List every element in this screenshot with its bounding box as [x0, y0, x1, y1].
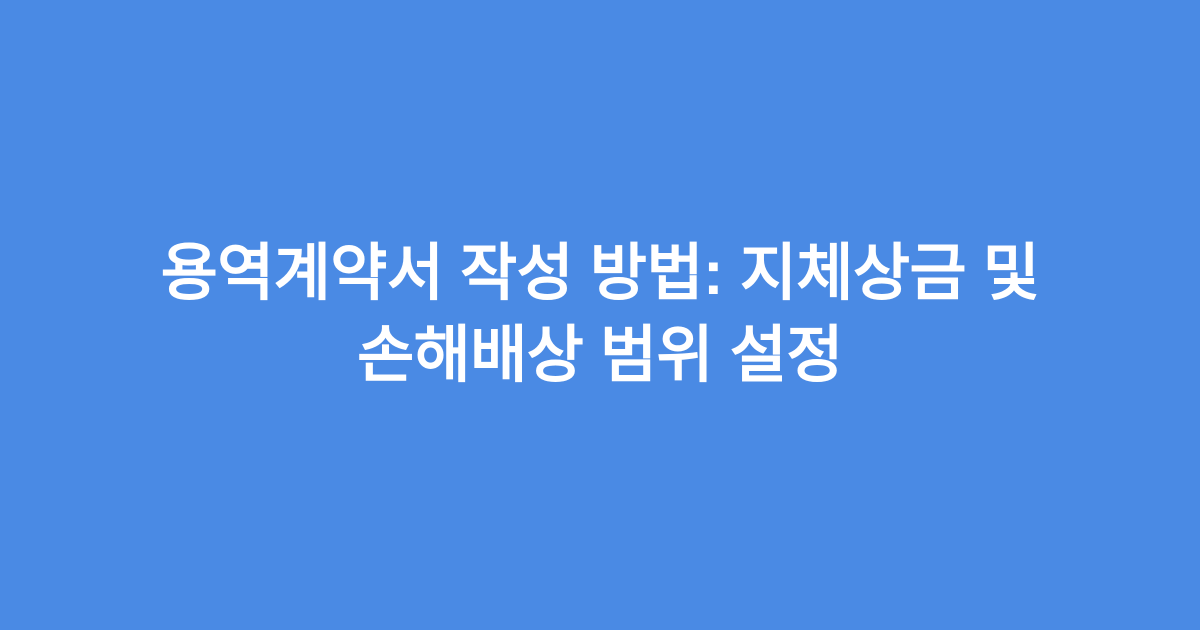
card-title: 용역계약서 작성 방법: 지체상금 및 손해배상 범위 설정 [105, 233, 1095, 397]
share-card-content: 용역계약서 작성 방법: 지체상금 및 손해배상 범위 설정 [96, 233, 1104, 397]
share-card: 용역계약서 작성 방법: 지체상금 및 손해배상 범위 설정 [0, 0, 1200, 630]
